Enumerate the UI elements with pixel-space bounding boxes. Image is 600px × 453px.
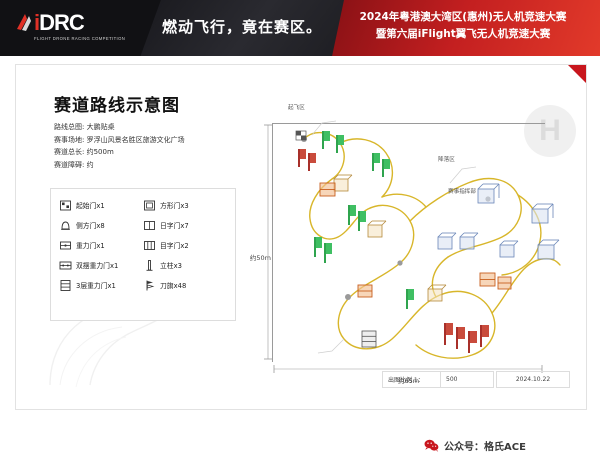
wechat-icon <box>424 439 439 452</box>
legend-item-flag: 刀旗x48 <box>143 275 227 295</box>
legend-label-8: 3层重力门x1 <box>76 280 116 290</box>
brand-logo: iDRC FLIGHT DRONE RACING COMPETITION <box>18 12 138 44</box>
course-map: H 约50m 约65m <box>252 87 582 395</box>
legend-box: 起始门x1 方形门x3 <box>50 188 236 321</box>
legend-label-7: 立柱x3 <box>160 260 182 270</box>
pole-icon <box>143 259 156 272</box>
legend-item-gravity-gate: 重力门x1 <box>59 235 143 255</box>
event-title-line2: 暨第六届iFlight翼飞无人机竞速大赛 <box>340 26 586 43</box>
diagram-card: 赛道路线示意图 路线总图: 大鹏贴桌 赛事场地: 罗浮山风景名胜区旅游文化广场 … <box>15 64 587 410</box>
gravity-gate-icon <box>59 239 72 252</box>
triple-gravity-icon <box>59 279 72 292</box>
scale-box: 出图比例 1： 500 <box>382 371 494 388</box>
track-path-drawing <box>252 87 582 395</box>
start-gate-marker <box>296 131 306 140</box>
scale-label: 出图比例 1： <box>383 372 441 387</box>
poster-body: 赛道路线示意图 路线总图: 大鹏贴桌 赛事场地: 罗浮山风景名胜区旅游文化广场 … <box>0 56 600 424</box>
letter-m-gate-icon <box>143 239 156 252</box>
card-corner-accent <box>568 65 586 83</box>
legend-item-m-gate: 目字门x2 <box>143 235 227 255</box>
meta-line-2: 赛道总长: 约500m <box>54 146 254 159</box>
legend-item-start-gate: 起始门x1 <box>59 195 143 215</box>
scale-value: 500 <box>441 376 457 383</box>
logo-wordmark: iDRC <box>18 12 138 34</box>
map-label-command: 赛事指挥部 <box>448 187 476 195</box>
legend-label-9: 刀旗x48 <box>160 280 186 290</box>
legend-label-4: 重力门x1 <box>76 240 105 250</box>
course-meta: 路线总图: 大鹏贴桌 赛事场地: 罗浮山风景名胜区旅游文化广场 赛道总长: 约5… <box>54 121 254 171</box>
event-title: 2024年粤港澳大湾区(惠州)无人机竞速大赛 暨第六届iFlight翼飞无人机竞… <box>340 9 586 43</box>
double-gravity-icon <box>59 259 72 272</box>
legend-grid: 起始门x1 方形门x3 <box>59 195 227 295</box>
map-label-landing: 降落区 <box>438 155 455 163</box>
map-label-takeoff: 起飞区 <box>288 103 305 111</box>
wechat-credit: 公众号：格氏ACE <box>424 438 526 453</box>
legend-item-square-gate: 方形门x3 <box>143 195 227 215</box>
header-slogan: 燃动飞行，竟在赛区。 <box>162 16 322 37</box>
legend-label-5: 目字门x2 <box>160 240 189 250</box>
wing-icon <box>16 13 32 31</box>
legend-item-side-gate: 侧方门x8 <box>59 215 143 235</box>
legend-item-double-gravity-gate: 双摆重力门x1 <box>59 255 143 275</box>
bell-gate-icon <box>59 219 72 232</box>
letter-h-gate-icon <box>143 219 156 232</box>
event-title-line1: 2024年粤港澳大湾区(惠州)无人机竞速大赛 <box>340 9 586 26</box>
logo-tagline: FLIGHT DRONE RACING COMPETITION <box>18 35 138 42</box>
meta-line-3: 赛道障碍: 约 <box>54 159 254 172</box>
legend-label-1: 方形门x3 <box>160 200 189 210</box>
square-gate-icon <box>143 199 156 212</box>
legend-label-2: 侧方门x8 <box>76 220 105 230</box>
legend-label-3: 日字门x7 <box>160 220 189 230</box>
page-title: 赛道路线示意图 <box>54 91 180 116</box>
legend-item-triple-gravity-gate: 3层重力门x1 <box>59 275 143 295</box>
wechat-label: 公众号：格氏ACE <box>444 438 526 453</box>
legend-item-h-gate: 日字门x7 <box>143 215 227 235</box>
start-gate-icon <box>59 199 72 212</box>
legend-item-pole: 立柱x3 <box>143 255 227 275</box>
meta-line-0: 路线总图: 大鹏贴桌 <box>54 121 254 134</box>
date-box: 2024.10.22 <box>496 371 570 388</box>
legend-label-6: 双摆重力门x1 <box>76 260 118 270</box>
flag-icon <box>143 279 156 292</box>
page-header: iDRC FLIGHT DRONE RACING COMPETITION 燃动飞… <box>0 0 600 56</box>
logo-letters-drc: DRC <box>39 10 84 35</box>
legend-label-0: 起始门x1 <box>76 200 105 210</box>
meta-line-1: 赛事场地: 罗浮山风景名胜区旅游文化广场 <box>54 134 254 147</box>
